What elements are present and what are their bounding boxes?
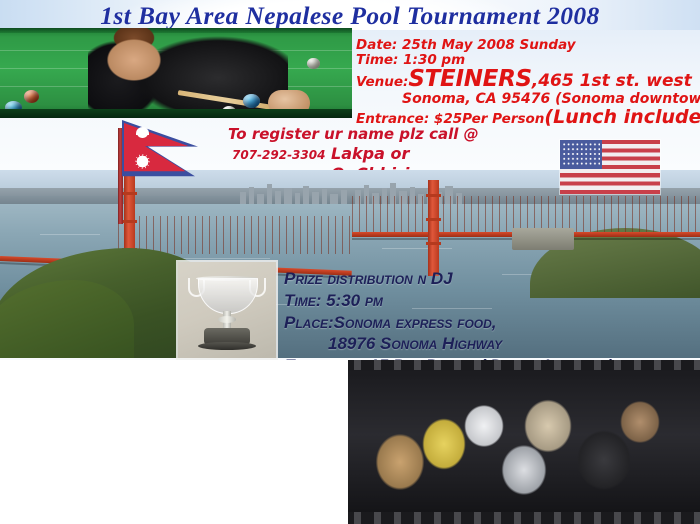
venue-city: Sonoma, CA 95476 (Sonoma downtown) — [356, 92, 700, 107]
billiard-ball-white — [307, 58, 320, 69]
venue-label: Venue: — [356, 74, 408, 90]
fort-point — [512, 228, 574, 250]
pool-tournament-flyer: 1st Bay Area Nepalese Pool Tournament 20… — [0, 0, 700, 524]
pool-player-photo — [0, 28, 352, 118]
bridge-suspender-cables — [118, 216, 350, 254]
crowd-photo-right — [348, 360, 700, 524]
prize-address: 18976 Sonoma Highway — [284, 333, 700, 355]
contact-row: 707-292-3304 Lakpa or — [228, 145, 558, 164]
marin-headland — [0, 280, 134, 358]
moon-icon — [136, 127, 149, 135]
pool-table-bottom-rail — [0, 109, 352, 118]
prize-time: Time: 5:30 pm — [284, 290, 700, 312]
crowd-photo-left-content — [16, 368, 322, 522]
venue-name: STEINERS — [408, 66, 531, 92]
prize-heading: Prize distribution n DJ — [284, 268, 700, 290]
lunch-included-note: (Lunch included) — [544, 106, 700, 128]
film-strip-border-bottom — [348, 512, 700, 524]
united-states-flag — [560, 140, 660, 194]
san-francisco-skyline — [238, 182, 352, 204]
event-date: Date: 25th May 2008 Sunday — [356, 38, 700, 52]
contact-phone: 707-292-3304 — [232, 148, 325, 162]
contact-name: Lakpa or — [331, 144, 409, 163]
event-time: Time: 1:30 pm — [356, 53, 700, 67]
register-heading: To register ur name plz call @ — [228, 126, 558, 144]
page-title: 1st Bay Area Nepalese Pool Tournament 20… — [0, 1, 700, 31]
event-venue: Venue:STEINERS,465 1st st. west — [356, 68, 700, 92]
trophy-plinth — [198, 342, 256, 350]
bridge-tower — [428, 180, 439, 276]
prize-place: Place:Sonoma express food, — [284, 312, 700, 334]
photo-gap — [330, 358, 350, 524]
nepal-flag — [118, 120, 200, 192]
stars-icon — [562, 142, 600, 167]
venue-address: ,465 1st st. west — [532, 71, 692, 91]
crowd-photo-left — [0, 360, 338, 524]
crowd-photo-right-content — [348, 370, 700, 514]
flag-canton — [560, 140, 602, 169]
sun-icon — [135, 154, 150, 169]
trophy-knob — [218, 316, 236, 323]
trophy-photo — [178, 262, 276, 358]
trophy-cup — [198, 278, 258, 314]
billiard-ball-blue — [243, 94, 260, 108]
event-details-block: Date: 25th May 2008 Sunday Time: 1:30 pm… — [356, 38, 700, 127]
billiard-ball-red — [24, 90, 39, 103]
